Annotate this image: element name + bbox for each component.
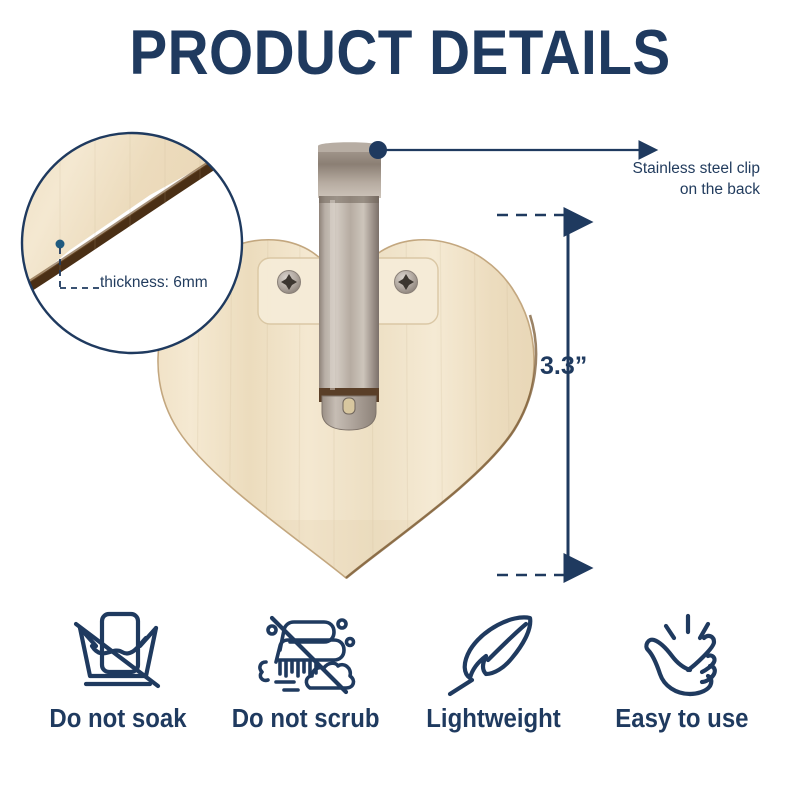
feature-row: Do not soak xyxy=(0,604,800,764)
clip-callout-line1: Stainless steel clip xyxy=(560,158,760,179)
clip-callout-arrow xyxy=(369,141,655,159)
thickness-callout-label: thickness: 6mm xyxy=(100,274,208,292)
tapping-hand-icon xyxy=(632,604,732,700)
screw-right xyxy=(395,271,418,294)
clip-callout-label: Stainless steel clip on the back xyxy=(560,158,760,200)
feature-label-do-not-soak: Do not soak xyxy=(49,704,186,734)
feature-label-do-not-scrub: Do not scrub xyxy=(232,704,380,734)
do-not-soak-icon xyxy=(66,604,170,700)
stainless-steel-clip xyxy=(318,142,381,430)
height-dimension-label: 3.3” xyxy=(540,352,587,381)
do-not-scrub-icon xyxy=(250,604,362,700)
clip-anchor-dot xyxy=(369,141,387,159)
feather-icon xyxy=(442,604,546,700)
product-details-infographic: PRODUCT DETAILS xyxy=(0,0,800,800)
feature-easy-to-use: Easy to use xyxy=(588,604,776,734)
thickness-anchor-dot xyxy=(56,240,65,249)
clip-callout-line2: on the back xyxy=(560,179,760,200)
screw-left xyxy=(278,271,301,294)
feature-do-not-scrub: Do not scrub xyxy=(212,604,400,734)
feature-label-lightweight: Lightweight xyxy=(427,704,561,734)
feature-do-not-soak: Do not soak xyxy=(24,604,212,734)
feature-lightweight: Lightweight xyxy=(400,604,588,734)
feature-label-easy-to-use: Easy to use xyxy=(615,704,748,734)
